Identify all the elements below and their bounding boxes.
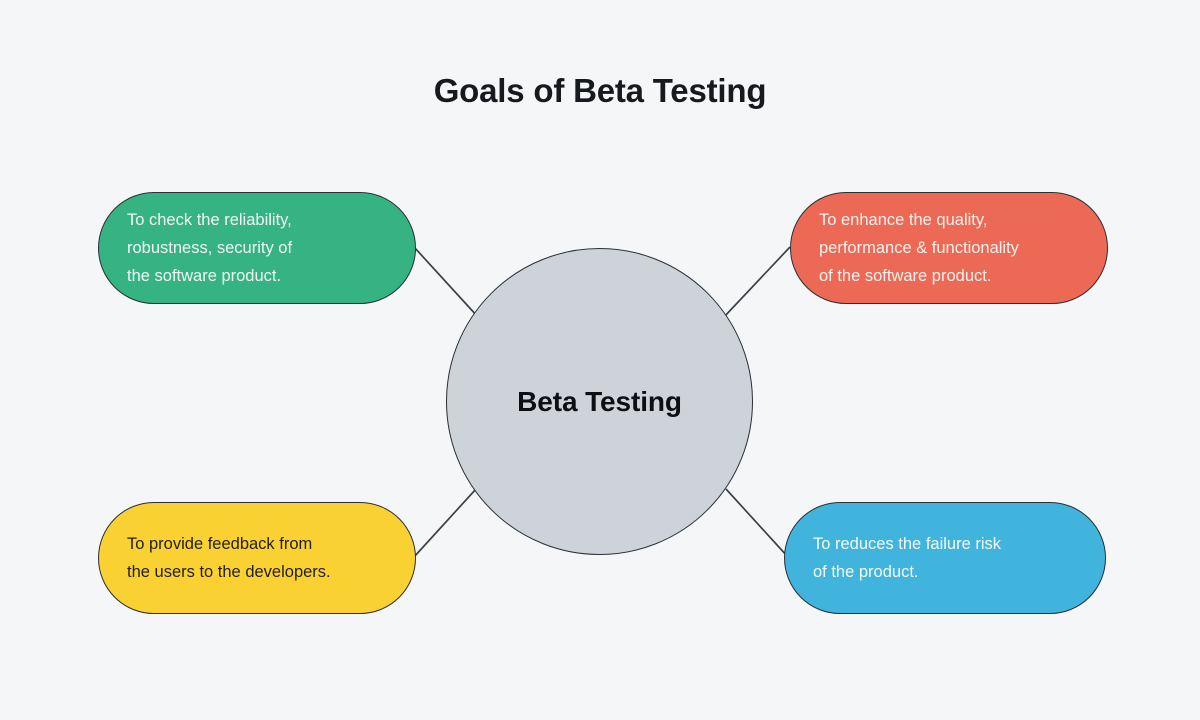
goal-node-quality[interactable]: To enhance the quality, performance & fu… [790,192,1108,304]
page-title: Goals of Beta Testing [0,72,1200,110]
goal-node-failure-risk[interactable]: To reduces the failure risk of the produ… [784,502,1106,614]
goal-node-label: To enhance the quality, performance & fu… [819,206,1079,290]
goal-node-label: To check the reliability, robustness, se… [127,206,387,290]
goal-node-feedback[interactable]: To provide feedback from the users to th… [98,502,416,614]
goal-node-reliability[interactable]: To check the reliability, robustness, se… [98,192,416,304]
connector-hub-to-blue [726,489,788,557]
connector-hub-to-red [724,247,790,317]
goal-node-label: To provide feedback from the users to th… [127,530,387,586]
connector-hub-to-green [414,247,478,317]
hub-node-label: Beta Testing [517,386,682,418]
hub-node-beta-testing[interactable]: Beta Testing [446,248,753,555]
connector-hub-to-yellow [414,489,476,557]
goal-node-label: To reduces the failure risk of the produ… [813,530,1077,586]
diagram-canvas: Goals of Beta Testing Beta Testing To ch… [0,0,1200,720]
